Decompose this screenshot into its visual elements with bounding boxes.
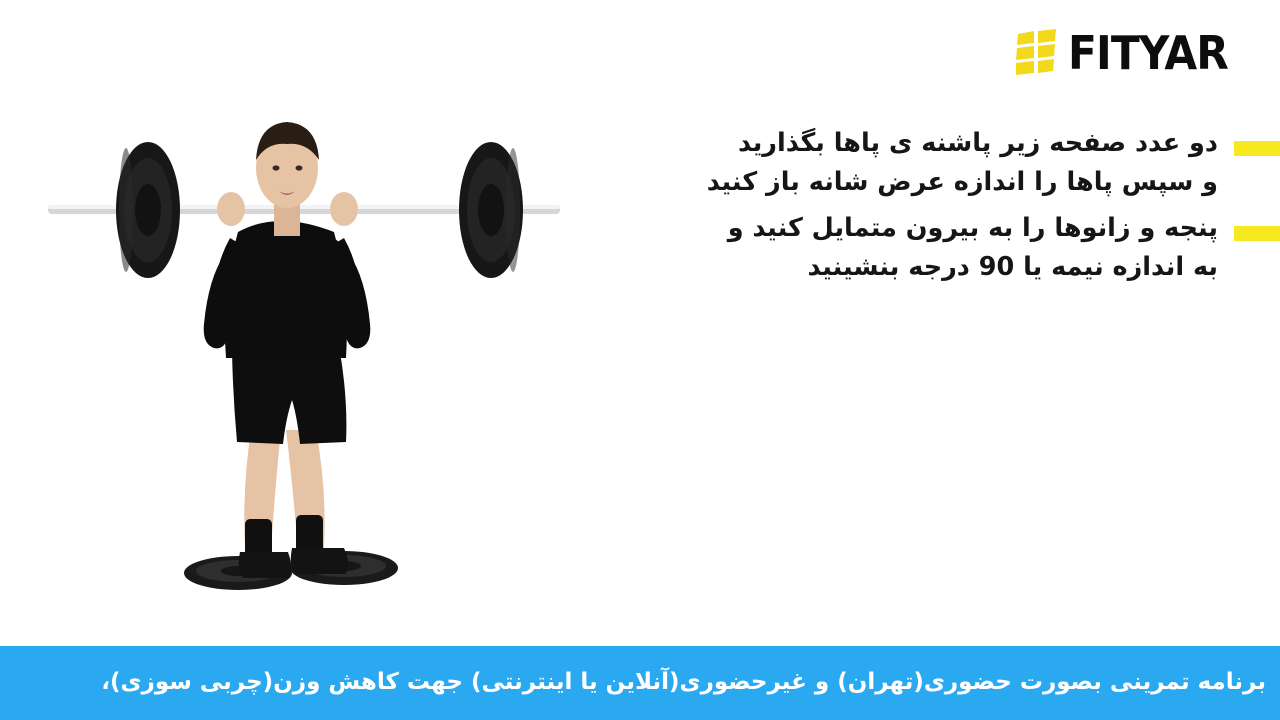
instruction-bullet-1: دو عدد صفحه زیر پاشنه ی پاها بگذارید و س… [640,124,1280,203]
instruction-panel: دو عدد صفحه زیر پاشنه ی پاها بگذارید و س… [640,124,1280,293]
brand-logo: FITYAR [1014,28,1242,78]
instruction-line: دو عدد صفحه زیر پاشنه ی پاها بگذارید [640,124,1218,163]
video-frame: FITYAR دو عدد صفحه زیر پاشنه ی پاها بگذا… [0,0,1280,720]
athlete-shoe-right [291,548,348,574]
yellow-bar-bullet-icon [1234,226,1280,241]
athlete-illustration [0,0,640,646]
instruction-line: و سپس پاها را اندازه عرض شانه باز کنید [640,163,1218,202]
fityar-grid-logo-icon [1014,28,1060,78]
athlete-torso [225,221,347,358]
instruction-line: پنجه و زانوها را به بیرون متمایل کنید و [640,209,1218,248]
brand-name: FITYAR [1068,30,1228,76]
instruction-bullet-2: پنجه و زانوها را به بیرون متمایل کنید و … [640,209,1280,288]
athlete-shoe-left [239,552,292,578]
instruction-line: به اندازه نیمه یا 90 درجه بنشینید [640,248,1218,287]
exercise-photo [0,0,640,646]
yellow-bar-bullet-icon [1234,141,1280,156]
promo-ticker-banner: برنامه تمرینی بصورت حضوری(تهران) و غیرحض… [0,646,1280,720]
promo-ticker-text: برنامه تمرینی بصورت حضوری(تهران) و غیرحض… [101,669,1280,697]
athlete-hand-right [330,192,358,226]
athlete-hand-left [217,192,245,226]
